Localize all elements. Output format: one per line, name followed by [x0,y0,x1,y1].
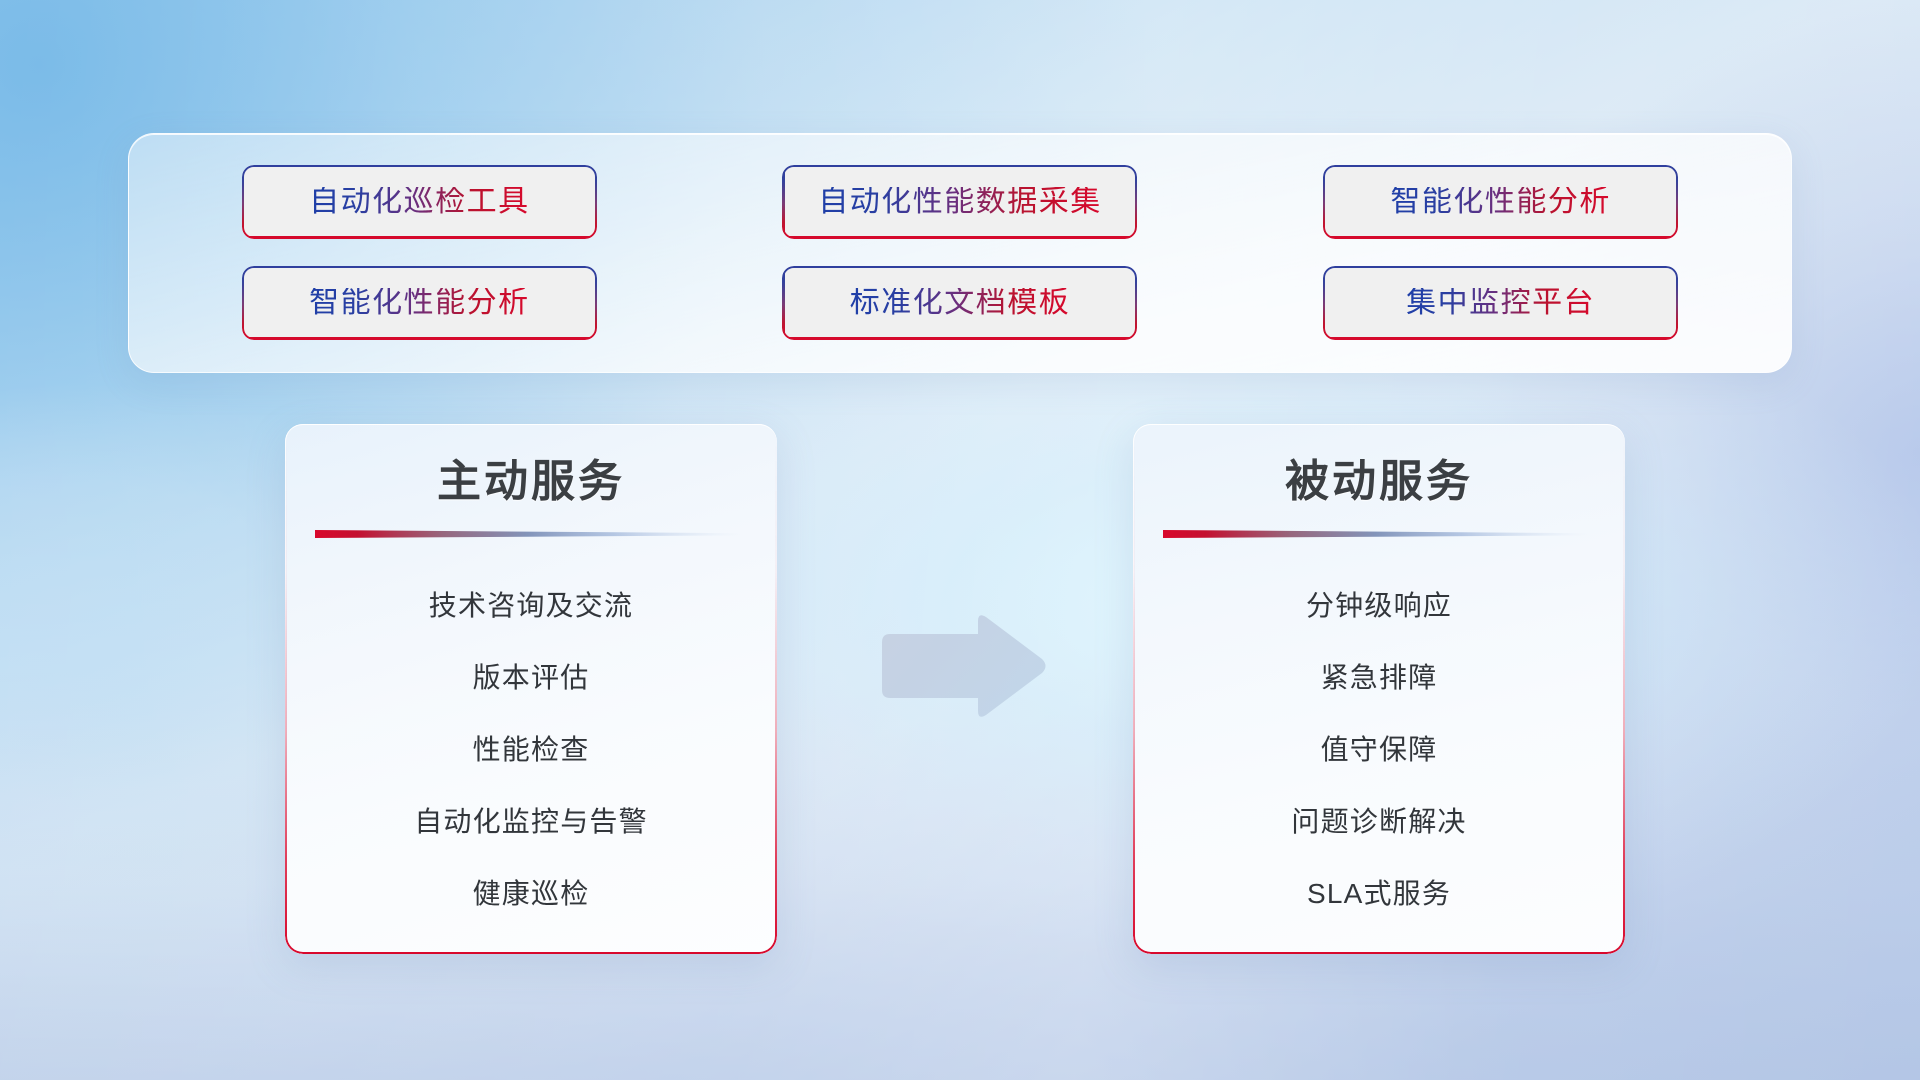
pill-label: 智能化性能分析 [309,288,530,318]
capability-panel: 自动化巡检工具 自动化性能数据采集 智能化性能分析 智能化性能分析 标准化文档模… [128,133,1792,373]
pill-intelligent-performance-analysis-top[interactable]: 智能化性能分析 [1323,165,1678,239]
pill-label: 标准化文档模板 [850,288,1071,318]
pill-centralized-monitoring-platform[interactable]: 集中监控平台 [1323,266,1678,340]
card-service-list: 技术咨询及交流 版本评估 性能检查 自动化监控与告警 健康巡检 [313,570,749,930]
pill-label: 自动化性能数据采集 [818,187,1102,217]
pill-automated-inspection-tool[interactable]: 自动化巡检工具 [242,165,597,239]
list-item: 健康巡检 [313,858,749,930]
list-item: 值守保障 [1161,714,1597,786]
pill-label: 智能化性能分析 [1390,187,1611,217]
arrow-right-icon [874,612,1048,720]
pill-label: 集中监控平台 [1406,288,1595,318]
list-item: SLA式服务 [1161,858,1597,930]
list-item: 分钟级响应 [1161,570,1597,642]
card-title: 主动服务 [313,458,749,506]
card-title: 被动服务 [1161,458,1597,506]
card-proactive-service[interactable]: 主动服务 技术咨询及交流 版本评估 [285,424,777,954]
list-item: 自动化监控与告警 [313,786,749,858]
list-item: 性能检查 [313,714,749,786]
card-divider-accent [315,528,741,540]
pill-intelligent-performance-analysis-bottom[interactable]: 智能化性能分析 [242,266,597,340]
pill-automated-performance-data-collection[interactable]: 自动化性能数据采集 [782,165,1137,239]
card-reactive-service[interactable]: 被动服务 分钟级响应 紧急排障 [1133,424,1625,954]
list-item: 版本评估 [313,642,749,714]
infographic-canvas: 自动化巡检工具 自动化性能数据采集 智能化性能分析 智能化性能分析 标准化文档模… [0,0,1920,1080]
card-service-list: 分钟级响应 紧急排障 值守保障 问题诊断解决 SLA式服务 [1161,570,1597,930]
list-item: 技术咨询及交流 [313,570,749,642]
pill-label: 自动化巡检工具 [309,187,530,217]
list-item: 紧急排障 [1161,642,1597,714]
card-divider-accent [1163,528,1589,540]
pill-standardized-document-template[interactable]: 标准化文档模板 [782,266,1137,340]
list-item: 问题诊断解决 [1161,786,1597,858]
